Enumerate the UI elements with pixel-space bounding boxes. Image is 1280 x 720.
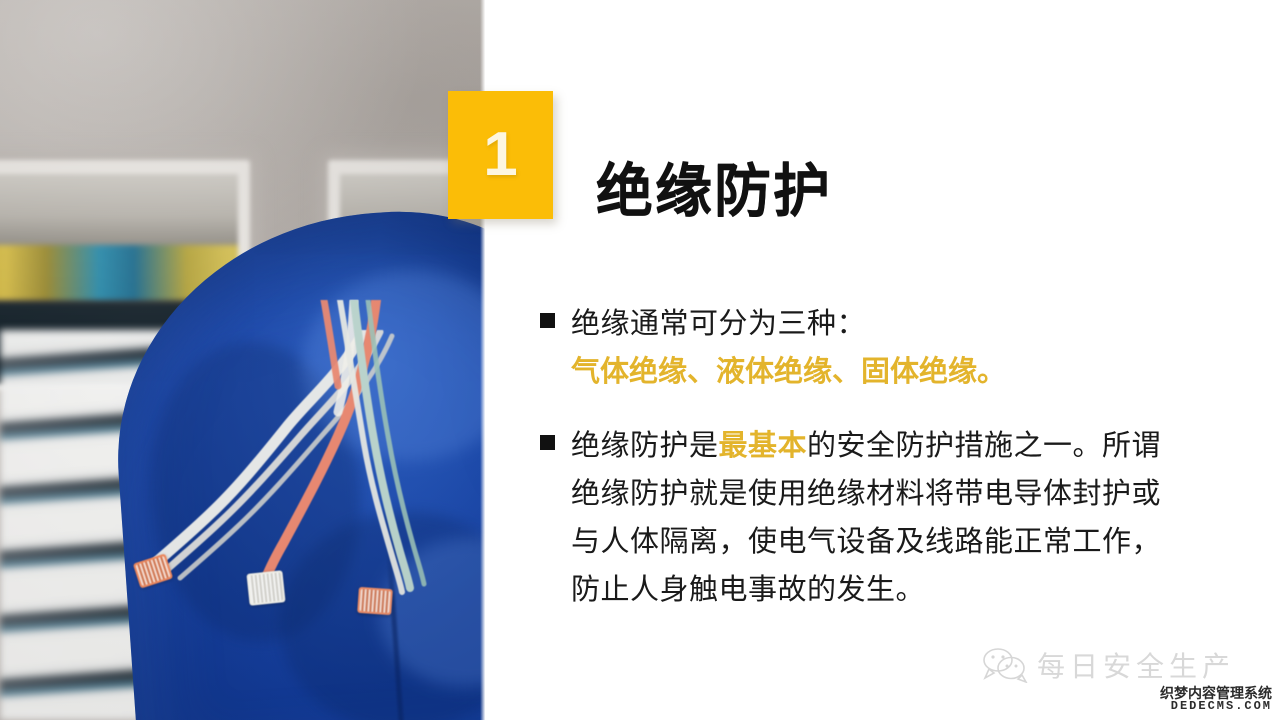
page-title: 绝缘防护 — [596, 145, 832, 227]
body-content: 绝缘通常可分为三种： 气体绝缘、液体绝缘、固体绝缘。 绝缘防护是最基本的安全防护… — [540, 300, 1200, 614]
section-number: 1 — [483, 124, 517, 186]
bullet-1-line-2-highlight: 气体绝缘、液体绝缘、固体绝缘。 — [571, 348, 1200, 396]
bullet-item-1: 绝缘通常可分为三种： 气体绝缘、液体绝缘、固体绝缘。 — [540, 300, 1200, 396]
section-number-badge: 1 — [448, 91, 553, 219]
dedecms-watermark-cn: 织梦内容管理系统 — [1160, 686, 1272, 700]
bullet-2-line-3: 与人体隔离，使电气设备及线路能正常工作， — [571, 518, 1200, 566]
bullet-item-2: 绝缘防护是最基本的安全防护措施之一。所谓 绝缘防护就是使用绝缘材料将带电导体封护… — [540, 422, 1200, 614]
bullet-2-line-1-post: 的安全防护措施之一。所谓 — [807, 430, 1161, 462]
slide-canvas: 1 绝缘防护 绝缘通常可分为三种： 气体绝缘、液体绝缘、固体绝缘。 绝缘防护是最… — [0, 0, 1280, 720]
bullet-1-line-1: 绝缘通常可分为三种： — [571, 300, 1200, 348]
watermark-text: 每日安全生产 — [1037, 645, 1235, 685]
bullet-2-line-1-emphasis: 最基本 — [719, 430, 808, 462]
bullet-2-line-2: 绝缘防护就是使用绝缘材料将带电导体封护或 — [571, 470, 1200, 518]
square-bullet-icon — [540, 313, 555, 328]
photo-cable-bundle-teal — [300, 300, 487, 610]
bullet-2-line-1: 绝缘防护是最基本的安全防护措施之一。所谓 — [571, 422, 1200, 470]
dedecms-watermark: 织梦内容管理系统 DEDECMS.COM — [1160, 686, 1272, 713]
connector-ridges — [359, 589, 390, 613]
bullet-2-line-4: 防止人身触电事故的发生。 — [571, 566, 1200, 614]
wechat-icon — [982, 647, 1028, 683]
connector-ridges — [249, 572, 284, 603]
dedecms-watermark-en: DEDECMS.COM — [1160, 700, 1272, 712]
photo-connector-white-middle — [246, 570, 285, 606]
photo-connector-orange-right — [357, 587, 393, 615]
square-bullet-icon — [540, 435, 555, 450]
channel-watermark: 每日安全生产 — [982, 645, 1235, 685]
bullet-2-line-1-pre: 绝缘防护是 — [571, 430, 719, 462]
slide-photo — [0, 0, 487, 720]
